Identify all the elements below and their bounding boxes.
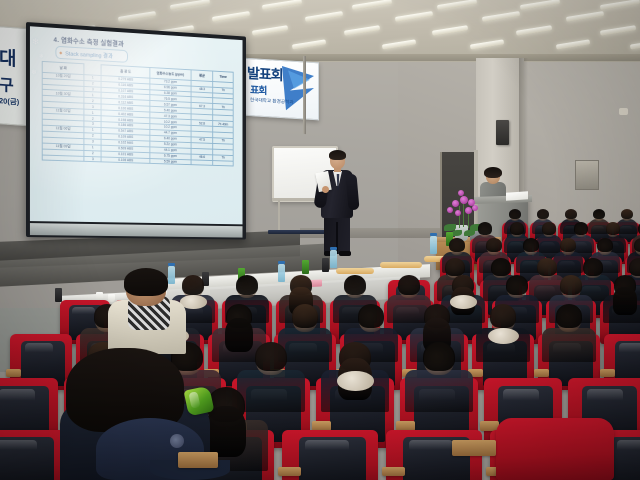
orchid-bloom: [472, 205, 478, 211]
banner-support-rod: [303, 56, 306, 134]
seat-armrest[interactable]: [600, 369, 615, 377]
seat-highlight: [0, 389, 35, 410]
snowflake-icon: ❄: [39, 53, 44, 60]
lecture-hall-photo: 대 구 20(금) 발표회 표회 한국대학교 환경공학과 ❄ ❄ ❄ 4. 염화…: [0, 0, 640, 480]
foreground-seat[interactable]: [496, 418, 614, 480]
podium-papers: [506, 191, 528, 201]
seat-highlight: [305, 440, 349, 458]
audience-person-hair: [537, 209, 550, 220]
audience-person-hair: [606, 222, 621, 235]
bottle-cap: [168, 263, 175, 266]
smoke-detector-icon: [619, 108, 628, 115]
audience-person-hair: [255, 342, 286, 371]
audience-person-body: [536, 235, 562, 253]
audience-person-hair: [556, 304, 582, 328]
audience-person-hair: [583, 258, 603, 276]
audience-person-hair: [358, 304, 384, 328]
seat-highlight: [617, 440, 640, 458]
audience-person-body: [553, 252, 583, 273]
bottle-cap: [330, 247, 337, 250]
audience-person-hair: [506, 275, 528, 295]
orchid-bloom: [455, 210, 461, 216]
left-banner-line1: 대: [0, 43, 14, 71]
orchid-bloom: [458, 190, 464, 196]
audience-long-hair: [613, 287, 637, 316]
audience-long-hair: [225, 318, 253, 353]
table-cell: 5.59 ppm: [150, 158, 191, 165]
wall-speaker-icon: [496, 120, 509, 145]
table-cell: [191, 159, 213, 165]
screen-surface: ❄ ❄ ❄ 4. 염화수소 측정 실험결과 Stack sampling 결과 …: [30, 26, 243, 224]
audience-person-hair: [344, 275, 366, 295]
wall-panel-box: [575, 160, 599, 190]
drink-can: [55, 288, 62, 302]
audience-person-hair: [565, 209, 578, 220]
orchid-bloom: [465, 207, 472, 214]
orchid-bloom: [460, 196, 468, 204]
cap-button: [170, 434, 184, 448]
water-bottle: [168, 266, 175, 284]
seat-highlight: [0, 440, 37, 458]
audience-person-hair: [593, 209, 606, 220]
snack-plate: [336, 268, 374, 274]
orchid-leaf: [452, 230, 462, 236]
audience-person-hair: [509, 209, 522, 220]
audience-person-hair: [574, 222, 589, 235]
seat-highlight: [409, 440, 453, 458]
seat-armrest[interactable]: [6, 369, 21, 377]
projection-screen: ❄ ❄ ❄ 4. 염화수소 측정 실험결과 Stack sampling 결과 …: [26, 22, 246, 240]
snowflake-icon: ❄: [32, 36, 39, 47]
audience-person-hair: [486, 238, 503, 253]
screen-bottom-bar: [30, 223, 243, 238]
audience-person-body: [405, 370, 474, 412]
fur-trimmed-hood: [337, 371, 373, 391]
seat-highlight: [25, 343, 54, 360]
left-banner-line3: 20(금): [0, 95, 19, 107]
table-cell: [42, 155, 84, 162]
presenter-hair: [329, 150, 346, 160]
audience-person-hair: [621, 209, 634, 220]
audience-person-hair: [445, 258, 465, 276]
bottle-cap: [430, 233, 437, 236]
table-cell: [213, 160, 233, 166]
audience-person-hair: [560, 275, 582, 295]
audience-person-hair: [510, 222, 525, 235]
audience-person-hair: [478, 222, 493, 235]
boy-hair: [124, 268, 168, 296]
seat-armrest[interactable]: [278, 467, 301, 475]
audience-person-hair: [182, 275, 204, 295]
table-body: 10월 29일10.279 ABS73.2 ppm20.116 ABS6.96 …: [42, 72, 233, 166]
snowflake-icon: ❄: [31, 68, 37, 76]
audience-person-hair: [597, 238, 614, 253]
presenter-shoe: [339, 251, 351, 256]
water-bottle: [330, 250, 337, 268]
audience-person-hair: [398, 275, 420, 295]
audience-person-hair: [423, 342, 454, 371]
orchid-leaf: [464, 230, 475, 236]
presentation-slide: ❄ ❄ ❄ 4. 염화수소 측정 실험결과 Stack sampling 결과 …: [30, 26, 243, 224]
seat-armrest[interactable]: [382, 467, 405, 475]
table-cell: 0.106 ABS: [102, 157, 150, 164]
foreground-armrest[interactable]: [178, 452, 218, 468]
seat-highlight: [619, 343, 640, 360]
fur-trimmed-hood: [450, 295, 477, 308]
audience-person-hair: [449, 238, 466, 253]
right-banner-line2: 표회: [250, 81, 266, 97]
water-bottle: [278, 264, 285, 282]
flower-stem: [463, 203, 464, 227]
slide-data-table: 날 짜흡 광 도염화수소농도 (ppm)평균Time 10월 29일10.279…: [42, 61, 234, 167]
water-bottle: [430, 236, 437, 254]
podium-person-hair: [484, 167, 502, 178]
snack-plate: [380, 262, 422, 268]
bottle-cap: [278, 261, 285, 264]
paper-cup: [108, 294, 115, 302]
seat-highlight: [503, 389, 539, 410]
audience-person-hair: [490, 304, 516, 328]
orchid-bloom: [447, 207, 453, 213]
audience-person-body: [542, 328, 597, 363]
audience-person-body: [237, 370, 306, 412]
seat-highlight: [72, 307, 95, 320]
audience-person-hair: [491, 258, 511, 276]
audience-person-hair: [629, 258, 640, 276]
foreground-armrest[interactable]: [452, 440, 496, 456]
presenter-hand: [322, 186, 329, 193]
banner-swoosh-graphic: [280, 64, 316, 116]
audience-person-hair: [542, 222, 557, 235]
right-banner-line3: 한국대학교 환경공학과: [250, 97, 294, 106]
audience-person-hair: [236, 275, 258, 295]
audience-person-hair: [292, 304, 318, 328]
seat-highlight: [587, 389, 623, 410]
paper-cup: [96, 292, 103, 300]
right-banner: 발표회 표회 한국대학교 환경공학과: [243, 58, 319, 121]
audience-person-hair: [560, 238, 577, 253]
whiteboard-leg: [278, 200, 280, 232]
orchid-bloom: [452, 200, 459, 207]
audience-person-hair: [523, 238, 540, 253]
left-banner-line2: 구: [0, 71, 12, 96]
seat-armrest[interactable]: [534, 369, 549, 377]
drink-can: [322, 258, 329, 272]
drink-can: [302, 260, 309, 274]
audience-long-hair: [206, 406, 246, 457]
table-cell: 3: [84, 156, 102, 162]
audience-person-hair: [537, 258, 557, 276]
